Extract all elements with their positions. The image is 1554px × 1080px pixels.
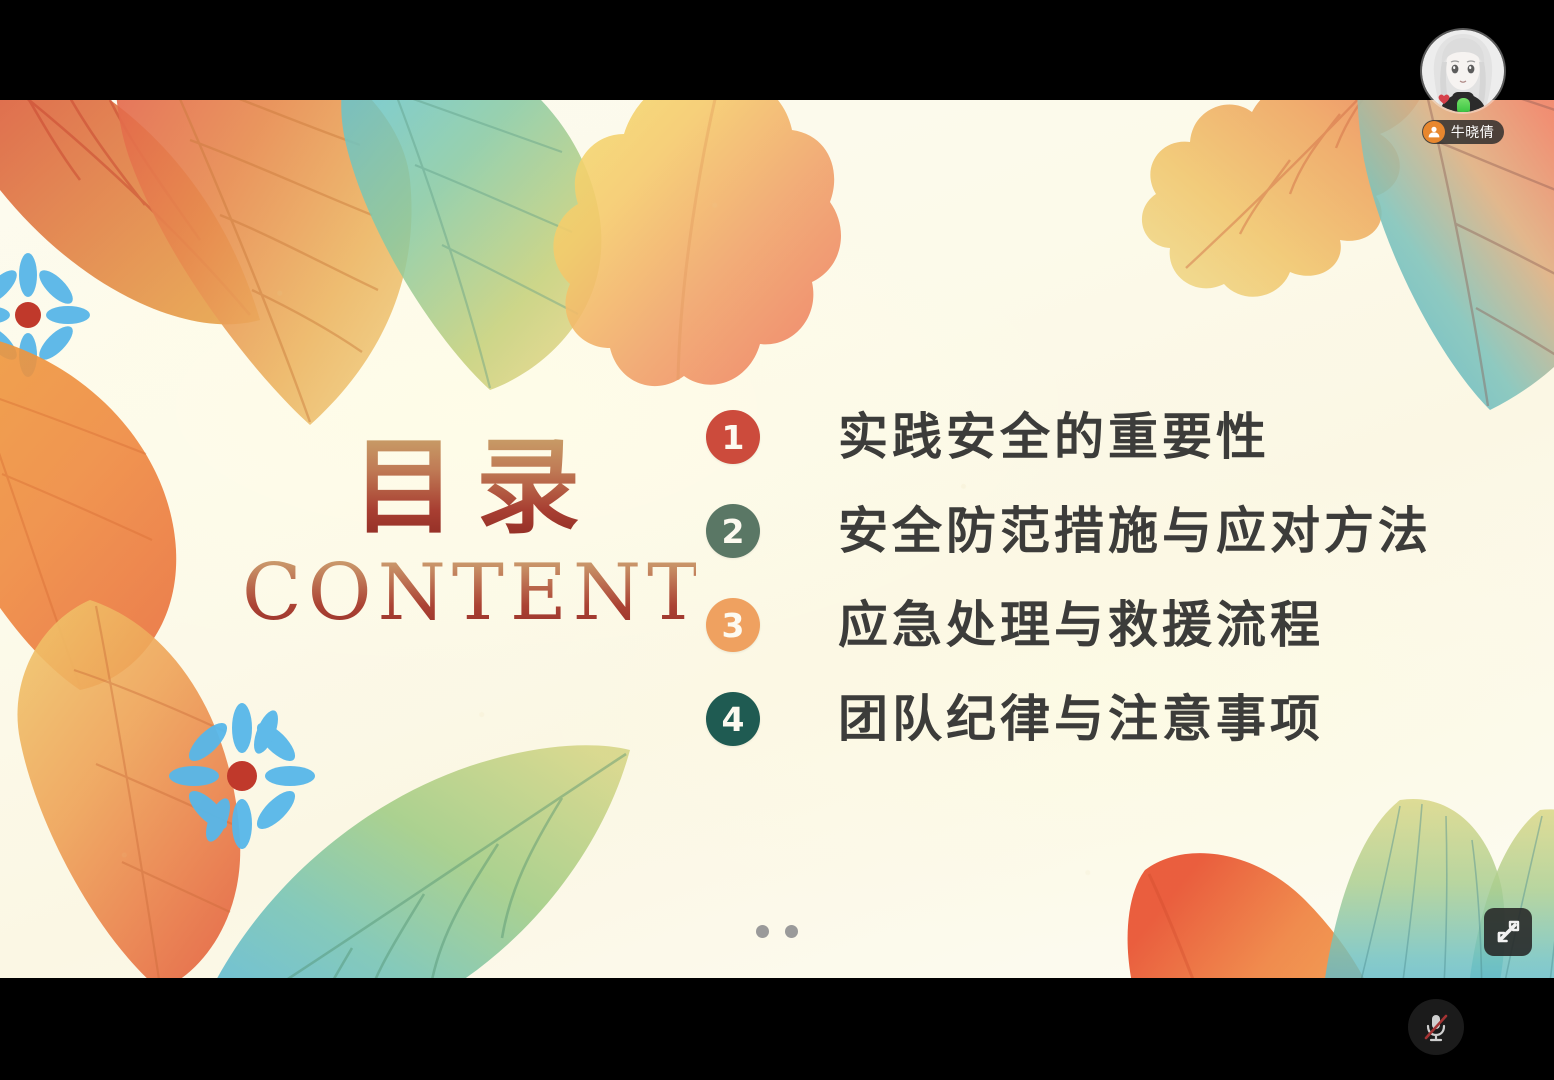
- presenter-tile[interactable]: 牛晓倩: [1418, 30, 1508, 144]
- pagination-dot[interactable]: [785, 925, 798, 938]
- list-item[interactable]: 4 团队纪律与注意事项: [706, 672, 1432, 766]
- slide-content: 目录 CONTENTS 1 实践安全的重要性 2 安全防范措施与应对方法 3 应…: [0, 100, 1554, 978]
- microphone-mute-button[interactable]: [1408, 999, 1464, 1055]
- toc-item-label: 团队纪律与注意事项: [838, 694, 1324, 744]
- presentation-slide[interactable]: 目录 CONTENTS 1 实践安全的重要性 2 安全防范措施与应对方法 3 应…: [0, 100, 1554, 978]
- list-item[interactable]: 2 安全防范措施与应对方法: [706, 484, 1432, 578]
- toc-item-label: 安全防范措施与应对方法: [838, 506, 1432, 556]
- list-item[interactable]: 1 实践安全的重要性: [706, 390, 1432, 484]
- presenter-name-badge: 牛晓倩: [1422, 120, 1505, 144]
- expand-fullscreen-icon: [1495, 919, 1521, 945]
- expand-fullscreen-button[interactable]: [1484, 908, 1532, 956]
- person-icon: [1423, 121, 1445, 143]
- toc-number-badge: 4: [706, 692, 760, 746]
- toc-title-block: 目录 CONTENTS: [236, 430, 696, 632]
- toc-number-badge: 1: [706, 410, 760, 464]
- list-item[interactable]: 3 应急处理与救援流程: [706, 578, 1432, 672]
- microphone-muted-icon: [1419, 1010, 1453, 1044]
- pagination-dots[interactable]: [756, 925, 798, 938]
- toc-item-label: 实践安全的重要性: [838, 412, 1270, 462]
- toc-number-badge: 3: [706, 598, 760, 652]
- presenter-name: 牛晓倩: [1451, 122, 1495, 142]
- page-subtitle: CONTENTS: [236, 554, 696, 632]
- toc-number-badge: 2: [706, 504, 760, 558]
- video-conference-screen: 目录 CONTENTS 1 实践安全的重要性 2 安全防范措施与应对方法 3 应…: [0, 0, 1554, 1080]
- avatar[interactable]: [1422, 30, 1504, 112]
- toc-list: 1 实践安全的重要性 2 安全防范措施与应对方法 3 应急处理与救援流程 4 团…: [706, 390, 1432, 766]
- toc-item-label: 应急处理与救援流程: [838, 600, 1324, 650]
- microphone-active-indicator: [1452, 92, 1474, 112]
- page-title: 目录: [236, 430, 696, 544]
- pagination-dot[interactable]: [756, 925, 769, 938]
